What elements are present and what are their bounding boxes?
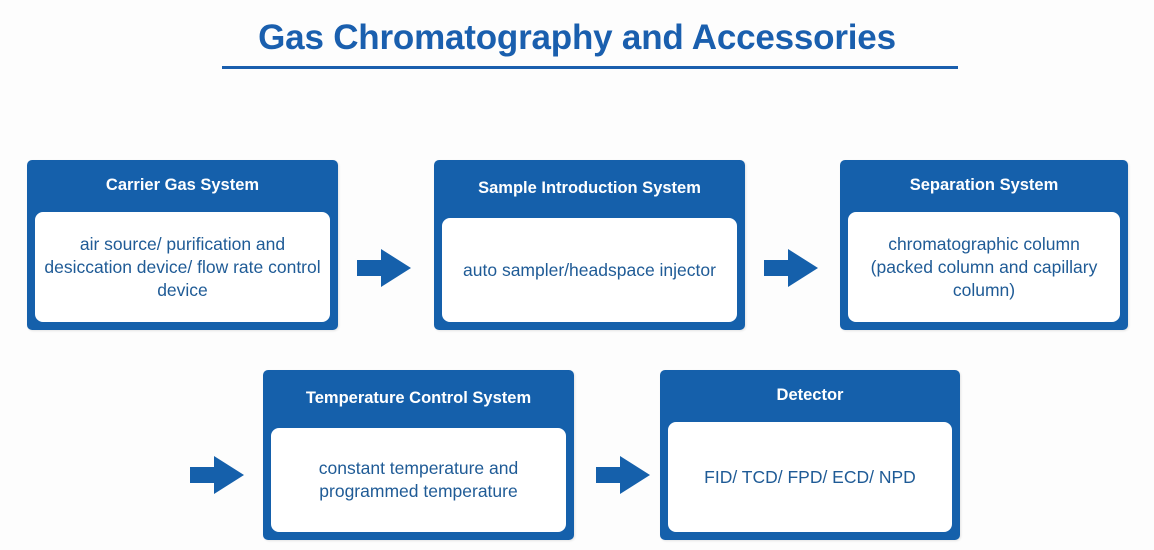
title-underline bbox=[222, 66, 958, 69]
page-title-text: Gas Chromatography and Accessories bbox=[258, 16, 896, 60]
node-temperature-control-system-header: Temperature Control System bbox=[263, 370, 574, 426]
node-temperature-control-system[interactable]: Temperature Control System constant temp… bbox=[263, 370, 574, 540]
node-detector[interactable]: Detector FID/ TCD/ FPD/ ECD/ NPD bbox=[660, 370, 960, 540]
node-temperature-control-system-body: constant temperature and programmed temp… bbox=[269, 426, 568, 534]
node-separation-system[interactable]: Separation System chromatographic column… bbox=[840, 160, 1128, 330]
node-sample-introduction-system-header: Sample Introduction System bbox=[434, 160, 745, 216]
node-detector-body: FID/ TCD/ FPD/ ECD/ NPD bbox=[666, 420, 954, 534]
arrow-right-icon bbox=[594, 452, 652, 498]
node-carrier-gas-system-header: Carrier Gas System bbox=[27, 160, 338, 210]
node-carrier-gas-system-body: air source/ purification and desiccation… bbox=[33, 210, 332, 324]
page-title: Gas Chromatography and Accessories bbox=[0, 16, 1154, 60]
node-separation-system-body: chromatographic column (packed column an… bbox=[846, 210, 1122, 324]
node-carrier-gas-system[interactable]: Carrier Gas System air source/ purificat… bbox=[27, 160, 338, 330]
arrow-right-icon bbox=[188, 452, 246, 498]
node-separation-system-header: Separation System bbox=[840, 160, 1128, 210]
arrow-right-icon bbox=[355, 245, 413, 291]
node-detector-header: Detector bbox=[660, 370, 960, 420]
node-sample-introduction-system-body: auto sampler/headspace injector bbox=[440, 216, 739, 324]
node-sample-introduction-system[interactable]: Sample Introduction System auto sampler/… bbox=[434, 160, 745, 330]
arrow-right-icon bbox=[762, 245, 820, 291]
diagram-canvas: Gas Chromatography and Accessories Carri… bbox=[0, 0, 1154, 550]
